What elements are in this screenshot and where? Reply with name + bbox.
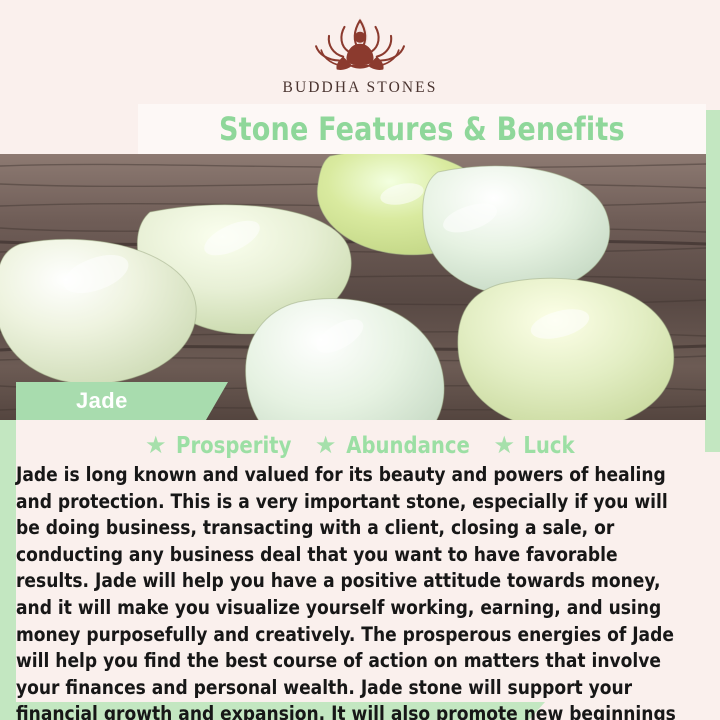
star-icon: ★ xyxy=(494,434,516,458)
stone-name-label: Jade xyxy=(76,388,128,414)
header: BUDDHA STONES xyxy=(0,0,720,110)
brand-logo: BUDDHA STONES xyxy=(0,14,720,97)
hero-stone-photo xyxy=(0,154,706,420)
page-title: Stone Features & Benefits xyxy=(219,110,625,148)
title-banner: Stone Features & Benefits xyxy=(138,104,706,154)
stone-benefits-infographic: BUDDHA STONES Stone Features & Benefits xyxy=(0,0,720,720)
star-icon: ★ xyxy=(315,434,337,458)
jade-stones-illustration xyxy=(0,154,706,420)
brand-name: BUDDHA STONES xyxy=(283,79,438,97)
benefit-item: ★ Abundance xyxy=(315,433,474,459)
benefit-item: ★ Luck xyxy=(494,433,576,459)
benefit-item: ★ Prosperity xyxy=(145,433,295,459)
benefit-label-prosperity: Prosperity xyxy=(177,433,292,459)
benefit-label-abundance: Abundance xyxy=(347,433,471,459)
benefit-label-luck: Luck xyxy=(523,433,574,459)
description-text: Jade is long known and valued for its be… xyxy=(16,462,696,720)
benefits-row: ★ Prosperity ★ Abundance ★ Luck xyxy=(16,430,705,462)
lotus-meditation-icon xyxy=(295,14,425,76)
star-icon: ★ xyxy=(145,434,167,458)
stone-name-banner: Jade xyxy=(16,382,228,420)
